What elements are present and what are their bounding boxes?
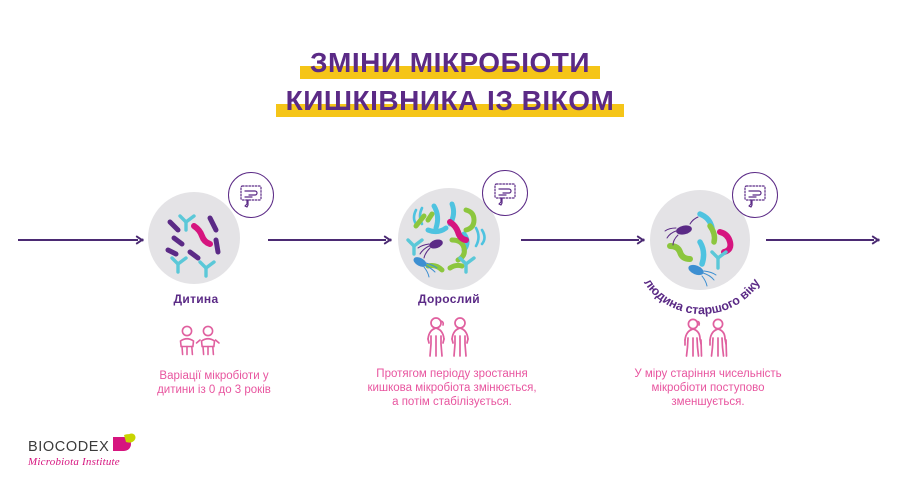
two-adults-icon [422, 316, 478, 358]
adult-stage-label: Дорослий [414, 292, 484, 306]
adult-caption: Протягом періоду зростання кишкова мікро… [352, 367, 552, 409]
intestine-icon [490, 178, 520, 208]
elderly-caption: У міру старіння чисельність мікробіоти п… [610, 367, 806, 409]
title-text-2: КИШКІВНИКА ІЗ ВІКОМ [286, 85, 615, 116]
biocodex-logo: BIOCODEX Microbiota Institute [28, 440, 137, 468]
arrow-shaft [18, 239, 138, 241]
arrow-shaft [268, 239, 386, 241]
caption-line: кишкова мікробіота змінюється, [352, 381, 552, 395]
logo-wordmark: BIOCODEX [28, 440, 109, 455]
caption-line: мікробіоти поступово [610, 381, 806, 395]
arrow-4 [766, 234, 882, 246]
infographic-canvas: ЗМІНИ МІКРОБІОТИ КИШКІВНИКА ІЗ ВІКОМ [0, 0, 900, 501]
caption-line: а потім стабілізується. [352, 395, 552, 409]
caption-line: дитини із 0 до 3 років [120, 383, 308, 397]
title-text-1: ЗМІНИ МІКРОБІОТИ [310, 47, 590, 78]
caption-line: У міру старіння чисельність [610, 367, 806, 381]
arrow-3 [521, 234, 647, 246]
child-microbes [148, 192, 240, 284]
arrow-shaft [521, 239, 639, 241]
elderly-stage-label-curved: людина старшого віку [630, 240, 774, 327]
logo-subtitle: Microbiota Institute [28, 456, 137, 468]
child-stage-label: Дитина [170, 292, 222, 306]
two-children-icon [174, 325, 226, 357]
elderly-stage-label-text: людина старшого віку [641, 276, 763, 317]
child-intestine-badge [228, 172, 274, 218]
caption-line: Протягом періоду зростання [352, 367, 552, 381]
caption-line: Варіації мікробіоти у [120, 369, 308, 383]
elderly-intestine-badge [732, 172, 778, 218]
arrow-head [136, 234, 146, 246]
arrow-shaft [766, 239, 874, 241]
arrow-head [872, 234, 882, 246]
arrow-1 [18, 234, 146, 246]
page-title: ЗМІНИ МІКРОБІОТИ КИШКІВНИКА ІЗ ВІКОМ [0, 46, 900, 122]
title-line-1: ЗМІНИ МІКРОБІОТИ [300, 46, 600, 80]
intestine-icon [740, 180, 770, 210]
caption-line: зменшується. [610, 395, 806, 409]
intestine-icon [236, 180, 266, 210]
title-line-2: КИШКІВНИКА ІЗ ВІКОМ [276, 84, 625, 118]
arrow-head [384, 234, 394, 246]
logo-leaf-icon [111, 433, 137, 451]
arrow-2 [268, 234, 394, 246]
two-elderly-icon [678, 316, 734, 358]
adult-intestine-badge [482, 170, 528, 216]
child-caption: Варіації мікробіоти у дитини із 0 до 3 р… [120, 369, 308, 397]
